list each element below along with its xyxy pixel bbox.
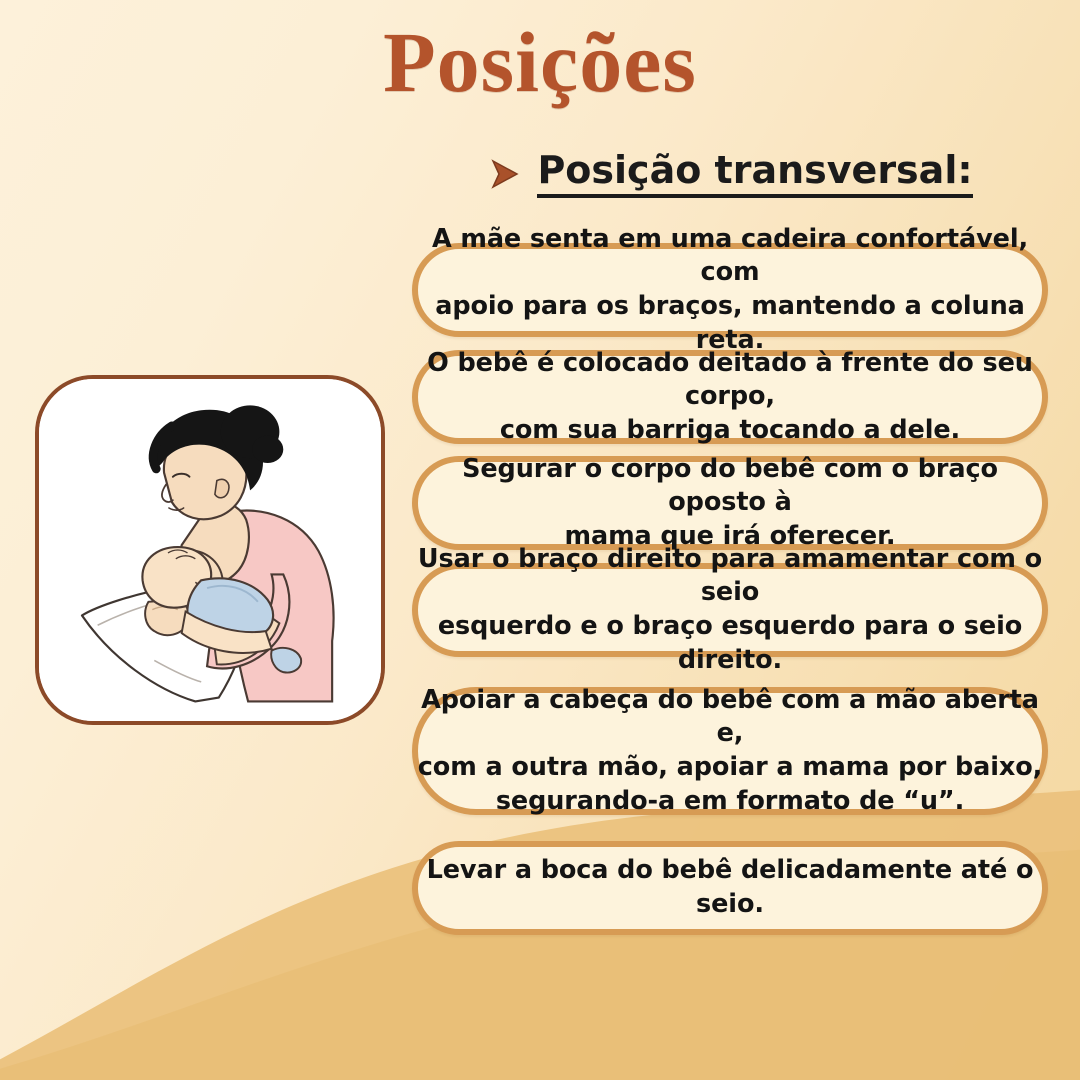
section-subtitle: Posição transversal: (537, 150, 972, 198)
steps-list: A mãe senta em uma cadeira confortável, … (412, 243, 1048, 935)
step-text-1: A mãe senta em uma cadeira confortável, … (414, 223, 1046, 358)
step-box-4: Usar o braço direito para amamentar com … (412, 563, 1048, 657)
subtitle-row: Posição transversal: (400, 150, 1060, 198)
step-box-3: Segurar o corpo do bebê com o braço opos… (412, 456, 1048, 550)
step-box-5: Apoiar a cabeça do bebê com a mão aberta… (412, 687, 1048, 815)
step-text-5: Apoiar a cabeça do bebê com a mão aberta… (414, 684, 1046, 819)
infographic-poster: Posições Posição transversal: Mãe sentad… (0, 0, 1080, 1080)
step-text-4: Usar o braço direito para amamentar com … (414, 543, 1046, 678)
arrow-right-triangle-icon (487, 157, 521, 191)
illustration-frame: Mãe sentada amamentando o bebê na posiçã… (35, 375, 385, 725)
step-box-6: Levar a boca do bebê delicadamente até o… (412, 841, 1048, 935)
step-text-3: Segurar o corpo do bebê com o braço opos… (414, 453, 1046, 554)
step-box-2: O bebê é colocado deitado à frente do se… (412, 350, 1048, 444)
step-text-2: O bebê é colocado deitado à frente do se… (414, 347, 1046, 448)
title-container: Posições (0, 16, 1080, 109)
step-box-1: A mãe senta em uma cadeira confortável, … (412, 243, 1048, 337)
step-text-6: Levar a boca do bebê delicadamente até o… (414, 854, 1046, 921)
page-title: Posições (383, 16, 697, 109)
breastfeeding-cross-cradle-illustration: Mãe sentada amamentando o bebê na posiçã… (39, 379, 381, 721)
